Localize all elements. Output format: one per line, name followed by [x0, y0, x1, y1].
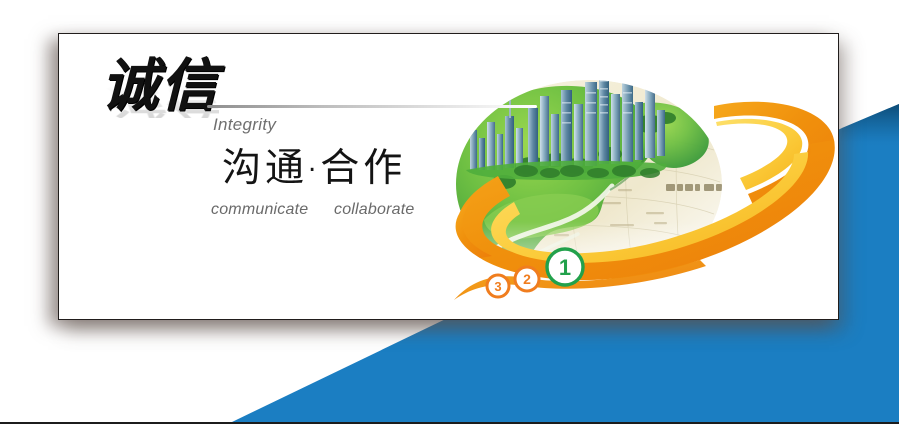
- subline-cn-left: 沟通: [222, 146, 308, 191]
- subline-cn: 沟通·合作: [222, 149, 406, 188]
- headline-cn: 诚信: [101, 58, 219, 115]
- subline-en-collaborate: collaborate: [334, 201, 414, 219]
- subline-cn-right: 合作: [320, 146, 406, 191]
- headline-divider: [207, 105, 537, 108]
- banner-text-block: 诚信 诚信 Integrity 沟通·合作 communicate collab…: [59, 34, 838, 319]
- subline-en-communicate: communicate: [211, 201, 308, 219]
- headline-en: Integrity: [213, 115, 276, 135]
- subline-separator: ·: [308, 156, 320, 186]
- banner-card: 3 2 1 诚信 诚信 Integrity 沟通·合作: [58, 33, 839, 320]
- banner-stage: 3 2 1 诚信 诚信 Integrity 沟通·合作: [0, 0, 899, 424]
